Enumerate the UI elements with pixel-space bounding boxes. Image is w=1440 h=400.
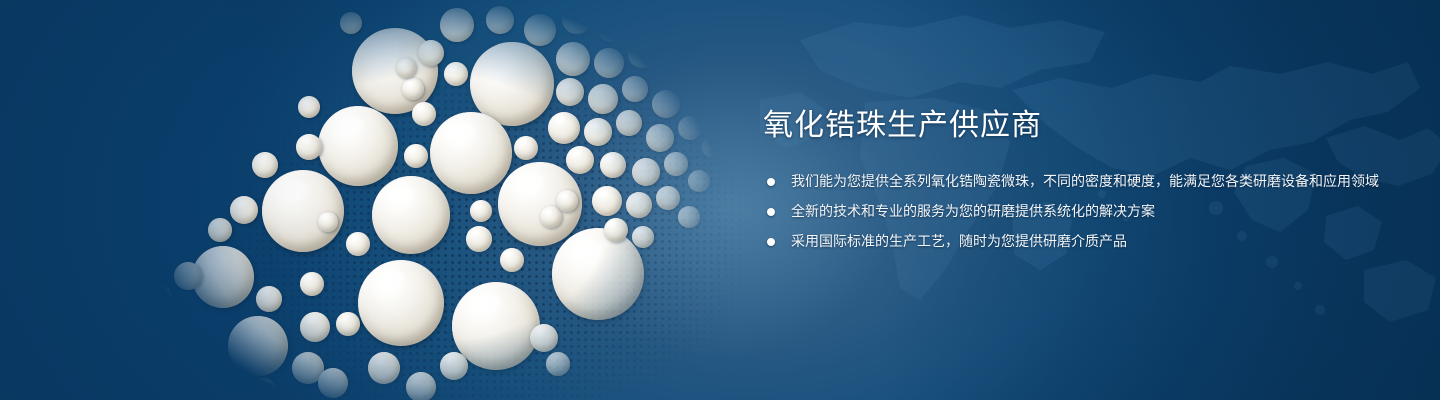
list-item: 我们能为您提供全系列氧化锆陶瓷微珠，不同的密度和硬度，能满足您各类研磨设备和应用… (763, 170, 1383, 193)
page-title: 氧化锆珠生产供应商 (763, 108, 1383, 144)
bullet-dot-icon (767, 238, 775, 246)
bullet-dot-icon (767, 178, 775, 186)
hero-banner: 氧化锆珠生产供应商 我们能为您提供全系列氧化锆陶瓷微珠，不同的密度和硬度，能满足… (0, 0, 1440, 400)
list-item: 全新的技术和专业的服务为您的研磨提供系统化的解决方案 (763, 200, 1383, 223)
bullet-dot-icon (767, 208, 775, 216)
banner-content: 氧化锆珠生产供应商 我们能为您提供全系列氧化锆陶瓷微珠，不同的密度和硬度，能满足… (763, 108, 1383, 253)
feature-list: 我们能为您提供全系列氧化锆陶瓷微珠，不同的密度和硬度，能满足您各类研磨设备和应用… (763, 170, 1383, 253)
list-item: 采用国际标准的生产工艺，随时为您提供研磨介质产品 (763, 230, 1383, 253)
list-item-label: 我们能为您提供全系列氧化锆陶瓷微珠，不同的密度和硬度，能满足您各类研磨设备和应用… (791, 170, 1383, 193)
list-item-label: 采用国际标准的生产工艺，随时为您提供研磨介质产品 (791, 230, 1383, 253)
list-item-label: 全新的技术和专业的服务为您的研磨提供系统化的解决方案 (791, 200, 1383, 223)
